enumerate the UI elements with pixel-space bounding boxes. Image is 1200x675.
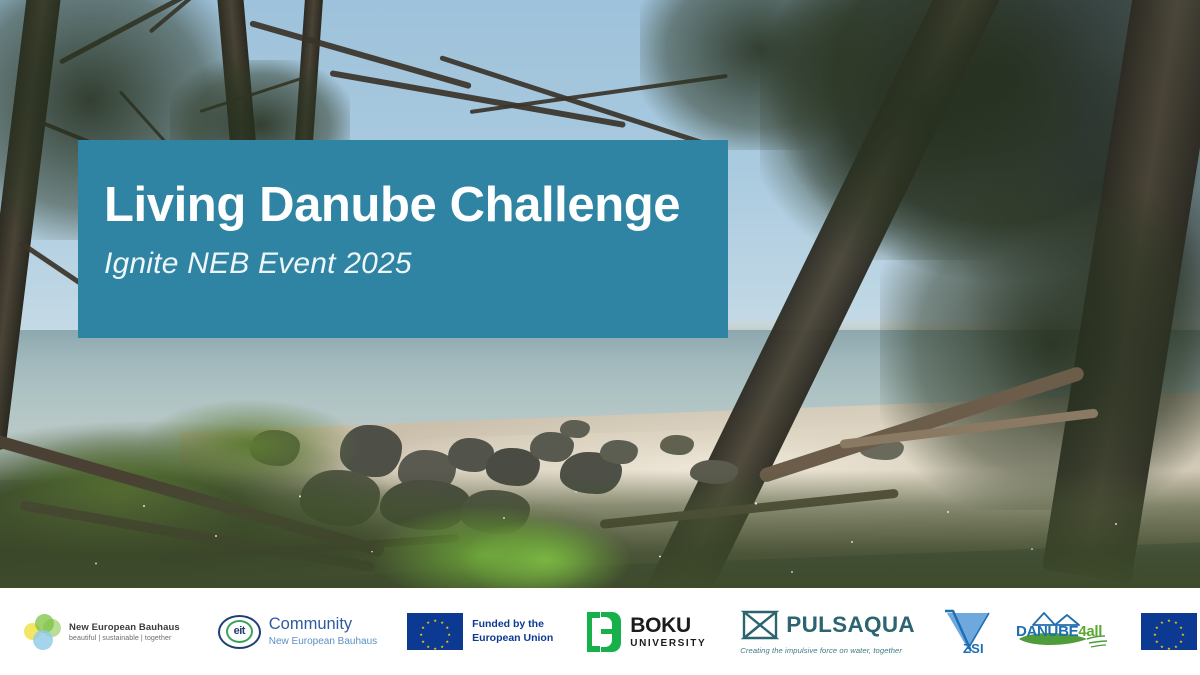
eit-subtitle: New European Bauhaus (269, 637, 377, 647)
title-banner: Living Danube Challenge Ignite NEB Event… (78, 140, 728, 338)
neb-tagline: beautiful | sustainable | together (69, 635, 180, 642)
danube4all-title: DANUBE (1016, 623, 1078, 640)
pulsaqua-title: PULSAQUA (786, 614, 915, 637)
logo-danube4all[interactable]: DANUBE4all (1013, 602, 1111, 662)
wildflower-speckles (0, 470, 1200, 588)
boku-subtitle: UNIVERSITY (630, 639, 706, 649)
boku-bracket-icon (587, 612, 621, 652)
eit-ring-icon: eit (218, 615, 261, 649)
foliage-right-2 (880, 180, 1200, 510)
eit-mark-text: eit (234, 626, 245, 637)
eu1-line1: Funded by the (472, 618, 553, 631)
foliage-right-3 (640, 0, 880, 150)
partner-logo-strip: New European Bauhaus beautiful | sustain… (0, 588, 1200, 675)
pulsaqua-bowtie-icon (740, 608, 780, 642)
logo-zsi[interactable]: ZSI (941, 602, 995, 662)
eu-flag-icon (407, 613, 463, 650)
eu1-line2: European Union (472, 632, 553, 645)
boku-title: BOKU (630, 615, 706, 636)
eu-flag-icon (1141, 613, 1197, 650)
neb-flower-icon (24, 614, 62, 650)
logo-funded-by-eu-2[interactable]: Funded by the European Union (1141, 602, 1200, 662)
eit-title: Community (269, 616, 377, 633)
logo-boku-university[interactable]: BOKU UNIVERSITY (587, 602, 706, 662)
pulsaqua-tagline: Creating the impulsive force on water, t… (740, 646, 902, 655)
logo-new-european-bauhaus[interactable]: New European Bauhaus beautiful | sustain… (24, 602, 180, 662)
logo-pulsaqua[interactable]: PULSAQUA Creating the impulsive force on… (740, 602, 915, 662)
neb-title: New European Bauhaus (69, 622, 180, 633)
logo-eit-community[interactable]: eit Community New European Bauhaus (218, 602, 377, 662)
danube4all-suffix: 4all (1078, 623, 1102, 640)
event-banner: Living Danube Challenge Ignite NEB Event… (0, 0, 1200, 675)
event-title: Living Danube Challenge (104, 180, 728, 231)
zsi-title: ZSI (963, 641, 984, 656)
logo-funded-by-eu-1[interactable]: Funded by the European Union (407, 602, 553, 662)
event-subtitle: Ignite NEB Event 2025 (104, 247, 728, 281)
